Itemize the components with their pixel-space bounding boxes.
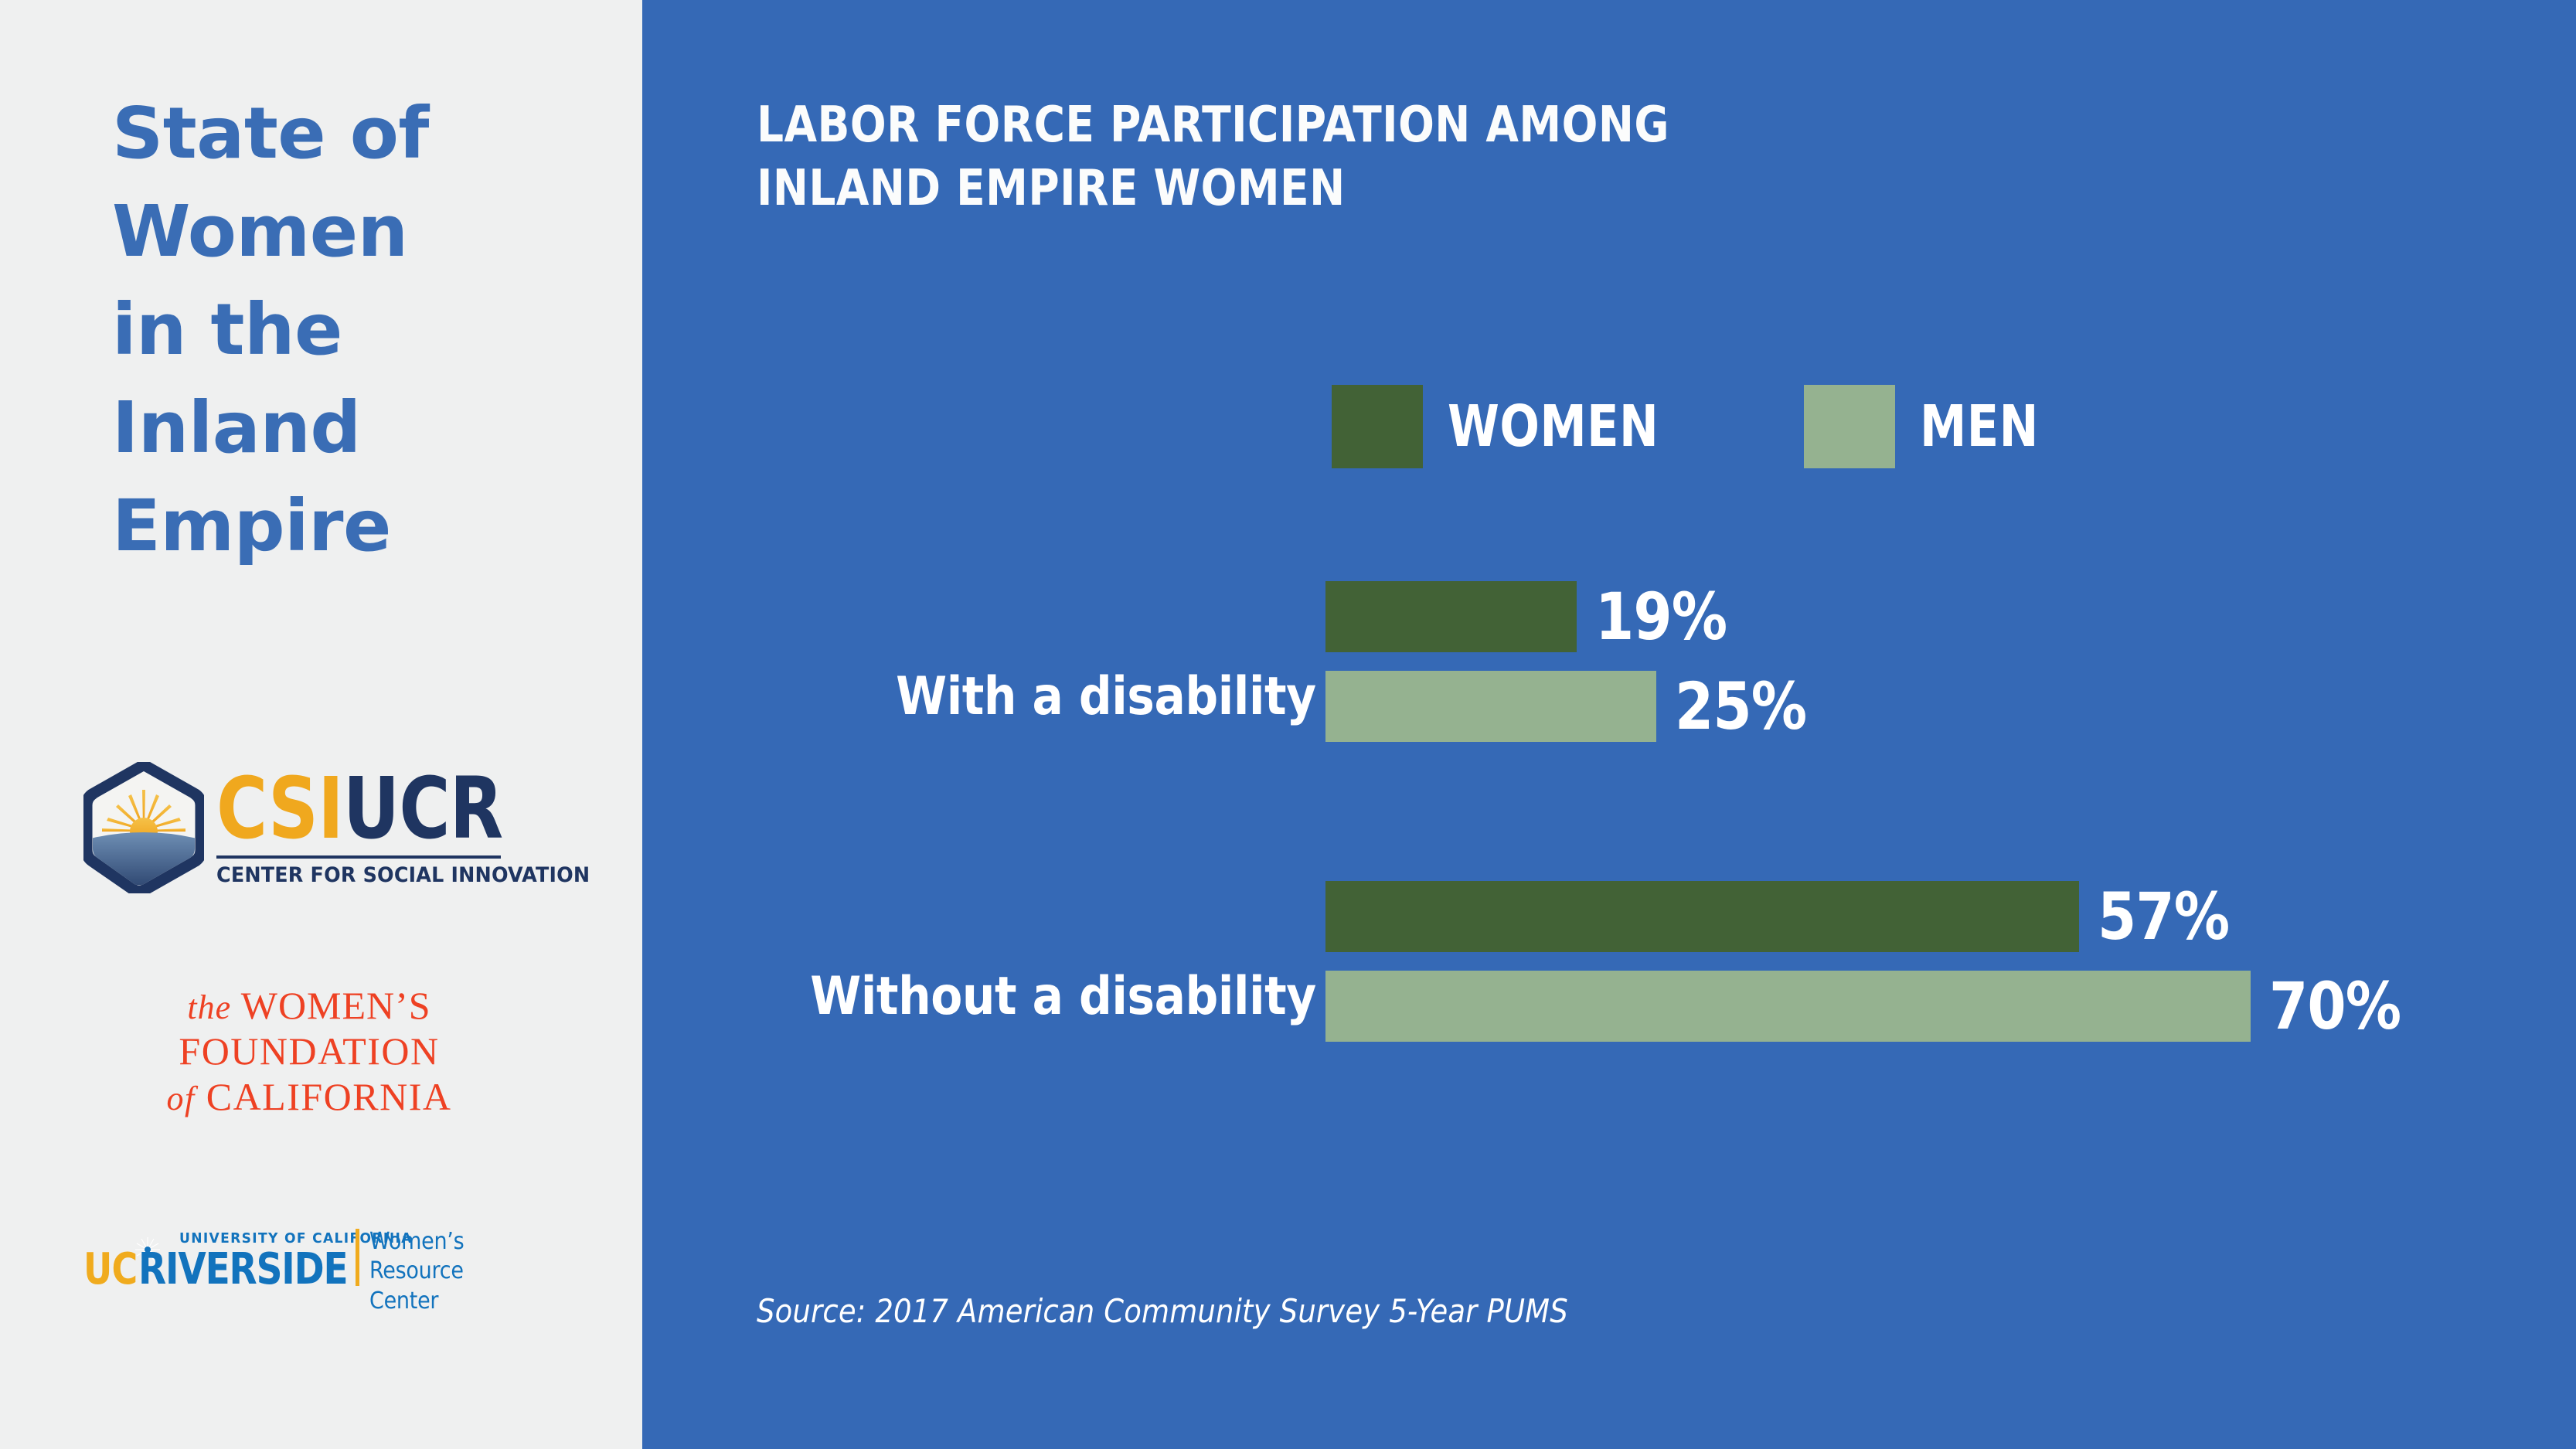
chart-panel: LABOR FORCE PARTICIPATION AMONG INLAND E…	[642, 0, 2576, 1449]
sidebar-title-line-3: in the	[112, 281, 591, 379]
bar-women-without-disability	[1325, 881, 2079, 952]
wf-womens: WOMEN’S	[241, 984, 431, 1027]
bar-row-men-without-disability: 70%	[1325, 971, 2422, 1042]
bar-row-women-with-disability: 19%	[1325, 581, 1748, 652]
bar-row-men-with-disability: 25%	[1325, 671, 1828, 742]
sidebar: State of Women in the Inland Empire	[0, 0, 642, 1449]
csi-word: CSI	[216, 759, 343, 858]
csi-subtitle: CENTER FOR SOCIAL INNOVATION	[216, 863, 536, 887]
bar-men-without-disability	[1325, 971, 2251, 1042]
sidebar-title: State of Women in the Inland Empire	[112, 85, 591, 576]
plot-area: With a disability 19% 25% Without a disa…	[642, 0, 2576, 1449]
csi-ucr-logo: CSIUCR CENTER FOR SOCIAL INNOVATION	[83, 759, 563, 906]
group-label-without-disability: Without a disability	[810, 966, 1316, 1027]
bar-men-with-disability	[1325, 671, 1656, 742]
wf-the: the	[187, 988, 231, 1026]
bar-row-women-without-disability: 57%	[1325, 881, 2251, 952]
group-label-with-disability: With a disability	[896, 666, 1316, 727]
ucr-unit-line-1: Women’s Resource	[369, 1227, 557, 1287]
wf-of: of	[166, 1080, 195, 1117]
bar-value-men-with-disability: 25%	[1675, 674, 1806, 739]
csi-ucr-wordmark: CSIUCR CENTER FOR SOCIAL INNOVATION	[216, 765, 556, 887]
bar-value-women-with-disability: 19%	[1595, 584, 1727, 649]
ucr-unit-line-2: Center	[369, 1287, 557, 1316]
ucr-word: UCR	[343, 759, 502, 858]
sidebar-title-line-5: Empire	[112, 478, 591, 576]
ucr-riverside-text: RIVERSIDE	[138, 1244, 347, 1294]
wf-line-2: FOUNDATION	[108, 1029, 510, 1074]
ucr-uc-text: UC	[83, 1244, 137, 1294]
ucr-womens-resource-center-logo: UC	[83, 1226, 578, 1291]
bar-women-with-disability	[1325, 581, 1577, 652]
bar-value-men-without-disability: 70%	[2269, 974, 2401, 1039]
hexagon-sunrise-icon	[83, 762, 204, 893]
sidebar-title-line-1: State of	[112, 85, 591, 183]
ucr-divider	[356, 1229, 359, 1286]
sidebar-title-line-4: Inland	[112, 379, 591, 478]
infographic-slide: State of Women in the Inland Empire	[0, 0, 2576, 1449]
wf-line-1: the WOMEN’S	[108, 983, 510, 1029]
womens-foundation-logo: the WOMEN’S FOUNDATION of CALIFORNIA	[108, 983, 510, 1120]
source-note: Source: 2017 American Community Survey 5…	[757, 1292, 1568, 1330]
ucr-unit-name: Women’s Resource Center	[369, 1227, 557, 1316]
wf-line-3: of CALIFORNIA	[108, 1074, 510, 1120]
wf-california: CALIFORNIA	[206, 1075, 452, 1118]
sidebar-title-line-2: Women	[112, 183, 591, 281]
bar-value-women-without-disability: 57%	[2098, 884, 2229, 949]
